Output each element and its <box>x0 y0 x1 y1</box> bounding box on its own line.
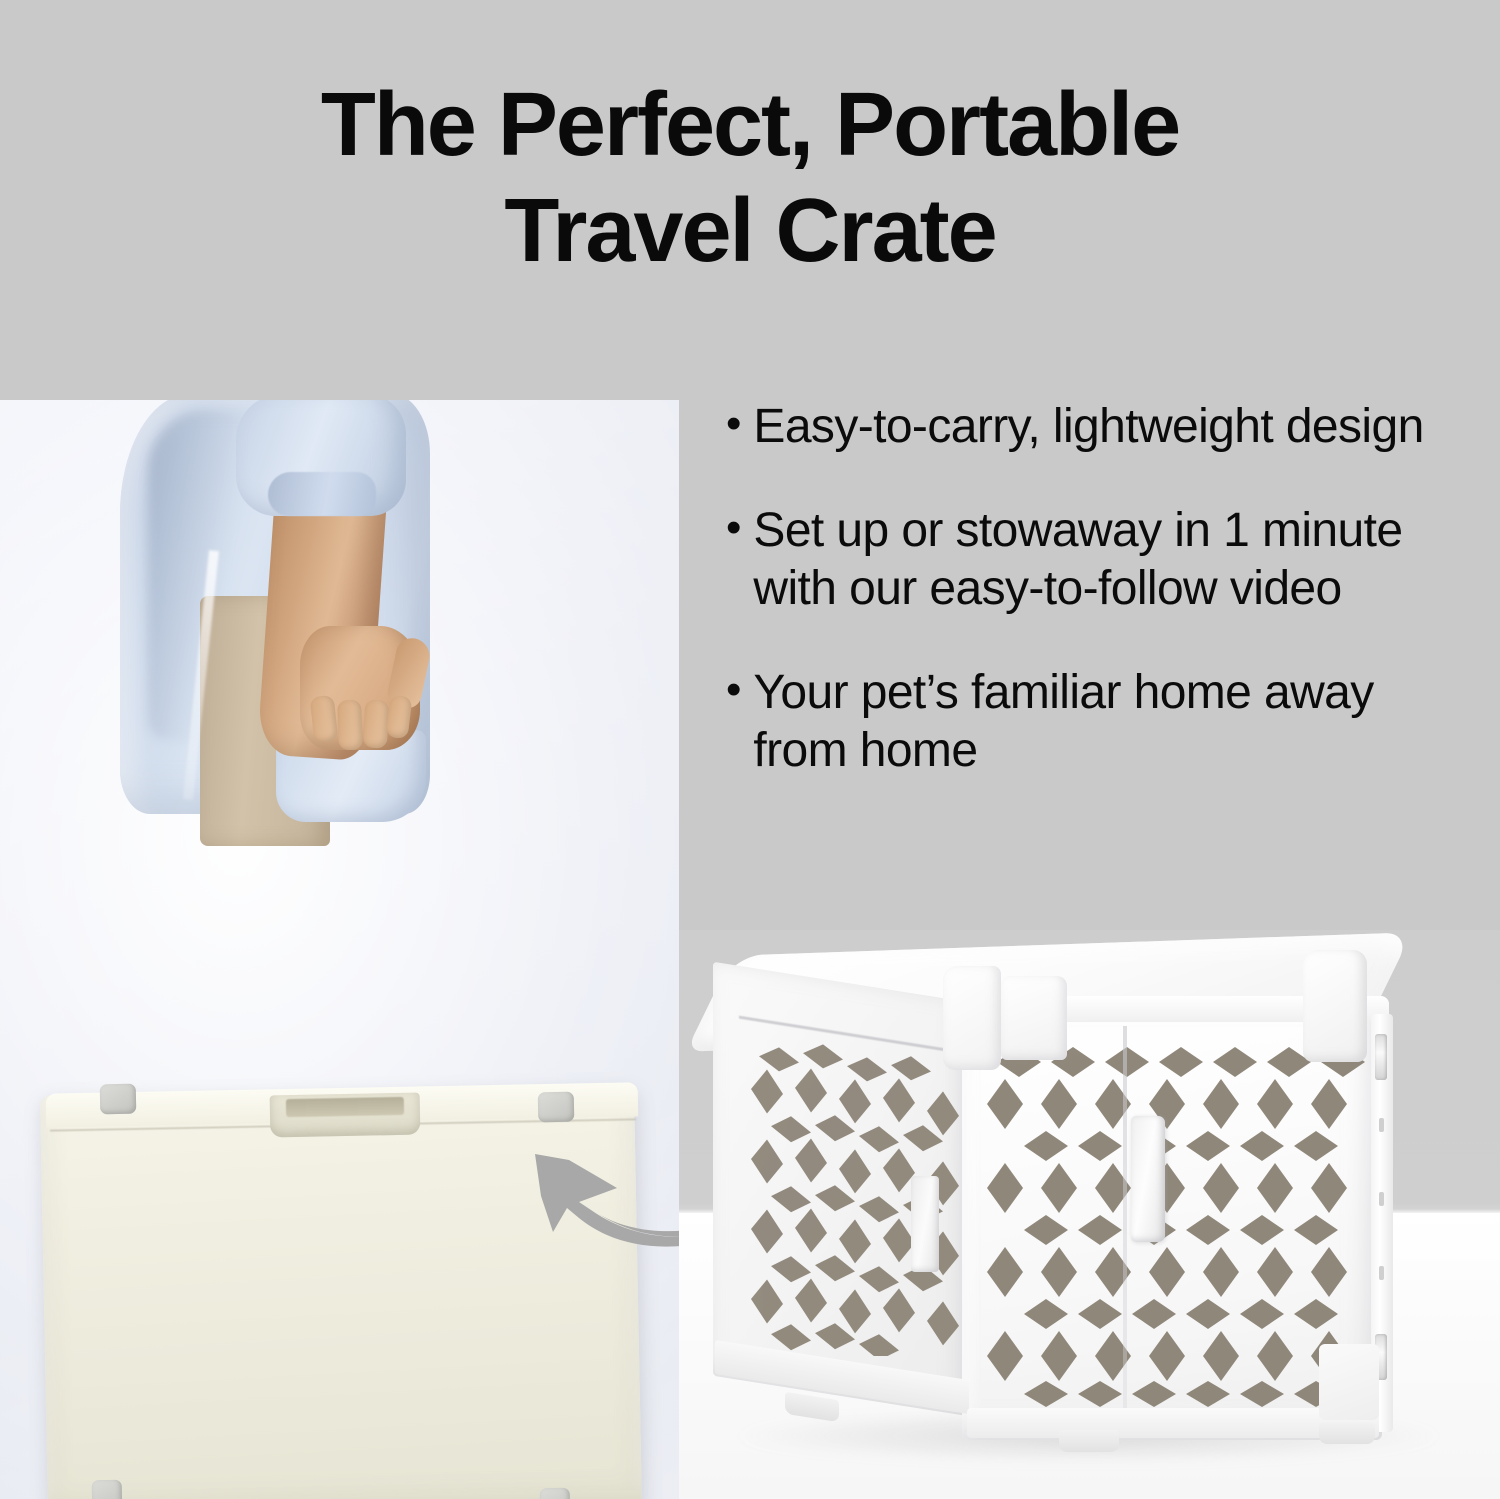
crate-handle-slot <box>286 1097 404 1117</box>
latch-clip <box>92 1480 123 1499</box>
crate-side-tab <box>911 1176 939 1272</box>
bullet-marker: • <box>726 502 741 554</box>
list-item: • Your pet’s familiar home away from hom… <box>726 664 1426 780</box>
sleeve-cuff <box>268 472 376 516</box>
carrying-photo <box>0 400 679 1499</box>
crate-bottom-rail <box>967 1408 1379 1438</box>
headline-line-2: Travel Crate <box>0 178 1500 284</box>
crate-top-tab <box>1001 976 1067 1060</box>
finger <box>310 695 339 743</box>
crate-corner-bracket <box>1303 950 1367 1062</box>
bullet-marker: • <box>726 664 741 716</box>
hinge-dot <box>1379 1192 1384 1206</box>
crate-bottom-tab <box>1319 1344 1379 1420</box>
crate-foot <box>1059 1430 1119 1452</box>
finger <box>363 699 389 748</box>
page-title: The Perfect, Portable Travel Crate <box>0 72 1500 284</box>
hinge-pin <box>1375 1034 1387 1080</box>
latch-clip <box>538 1092 575 1123</box>
crate-door-latch <box>1131 1116 1165 1242</box>
folded-crate-panel <box>40 1084 642 1499</box>
ad-canvas: The Perfect, Portable Travel Crate <box>0 0 1500 1499</box>
crate-foot <box>1319 1422 1375 1444</box>
crate-foot <box>785 1392 839 1423</box>
finger <box>337 700 363 751</box>
bullet-text: Your pet’s familiar home away from home <box>753 664 1426 780</box>
latch-clip <box>100 1084 137 1115</box>
front-lattice-pattern <box>981 1036 1367 1412</box>
feature-list: • Easy-to-carry, lightweight design • Se… <box>726 398 1426 826</box>
crate-door-gap <box>1123 1026 1127 1428</box>
headline-line-1: The Perfect, Portable <box>321 75 1179 175</box>
pet-crate <box>679 930 1500 1499</box>
latch-clip <box>540 1488 571 1499</box>
bullet-text: Easy-to-carry, lightweight design <box>753 398 1423 456</box>
bullet-text: Set up or stowaway in 1 minute with our … <box>753 502 1426 618</box>
hinge-dot <box>1379 1118 1384 1132</box>
assembled-crate-photo <box>679 930 1500 1499</box>
crate-corner-bracket <box>943 966 1001 1070</box>
list-item: • Set up or stowaway in 1 minute with ou… <box>726 502 1426 618</box>
hinge-dot <box>1379 1266 1384 1280</box>
bullet-marker: • <box>726 398 741 450</box>
list-item: • Easy-to-carry, lightweight design <box>726 398 1426 456</box>
